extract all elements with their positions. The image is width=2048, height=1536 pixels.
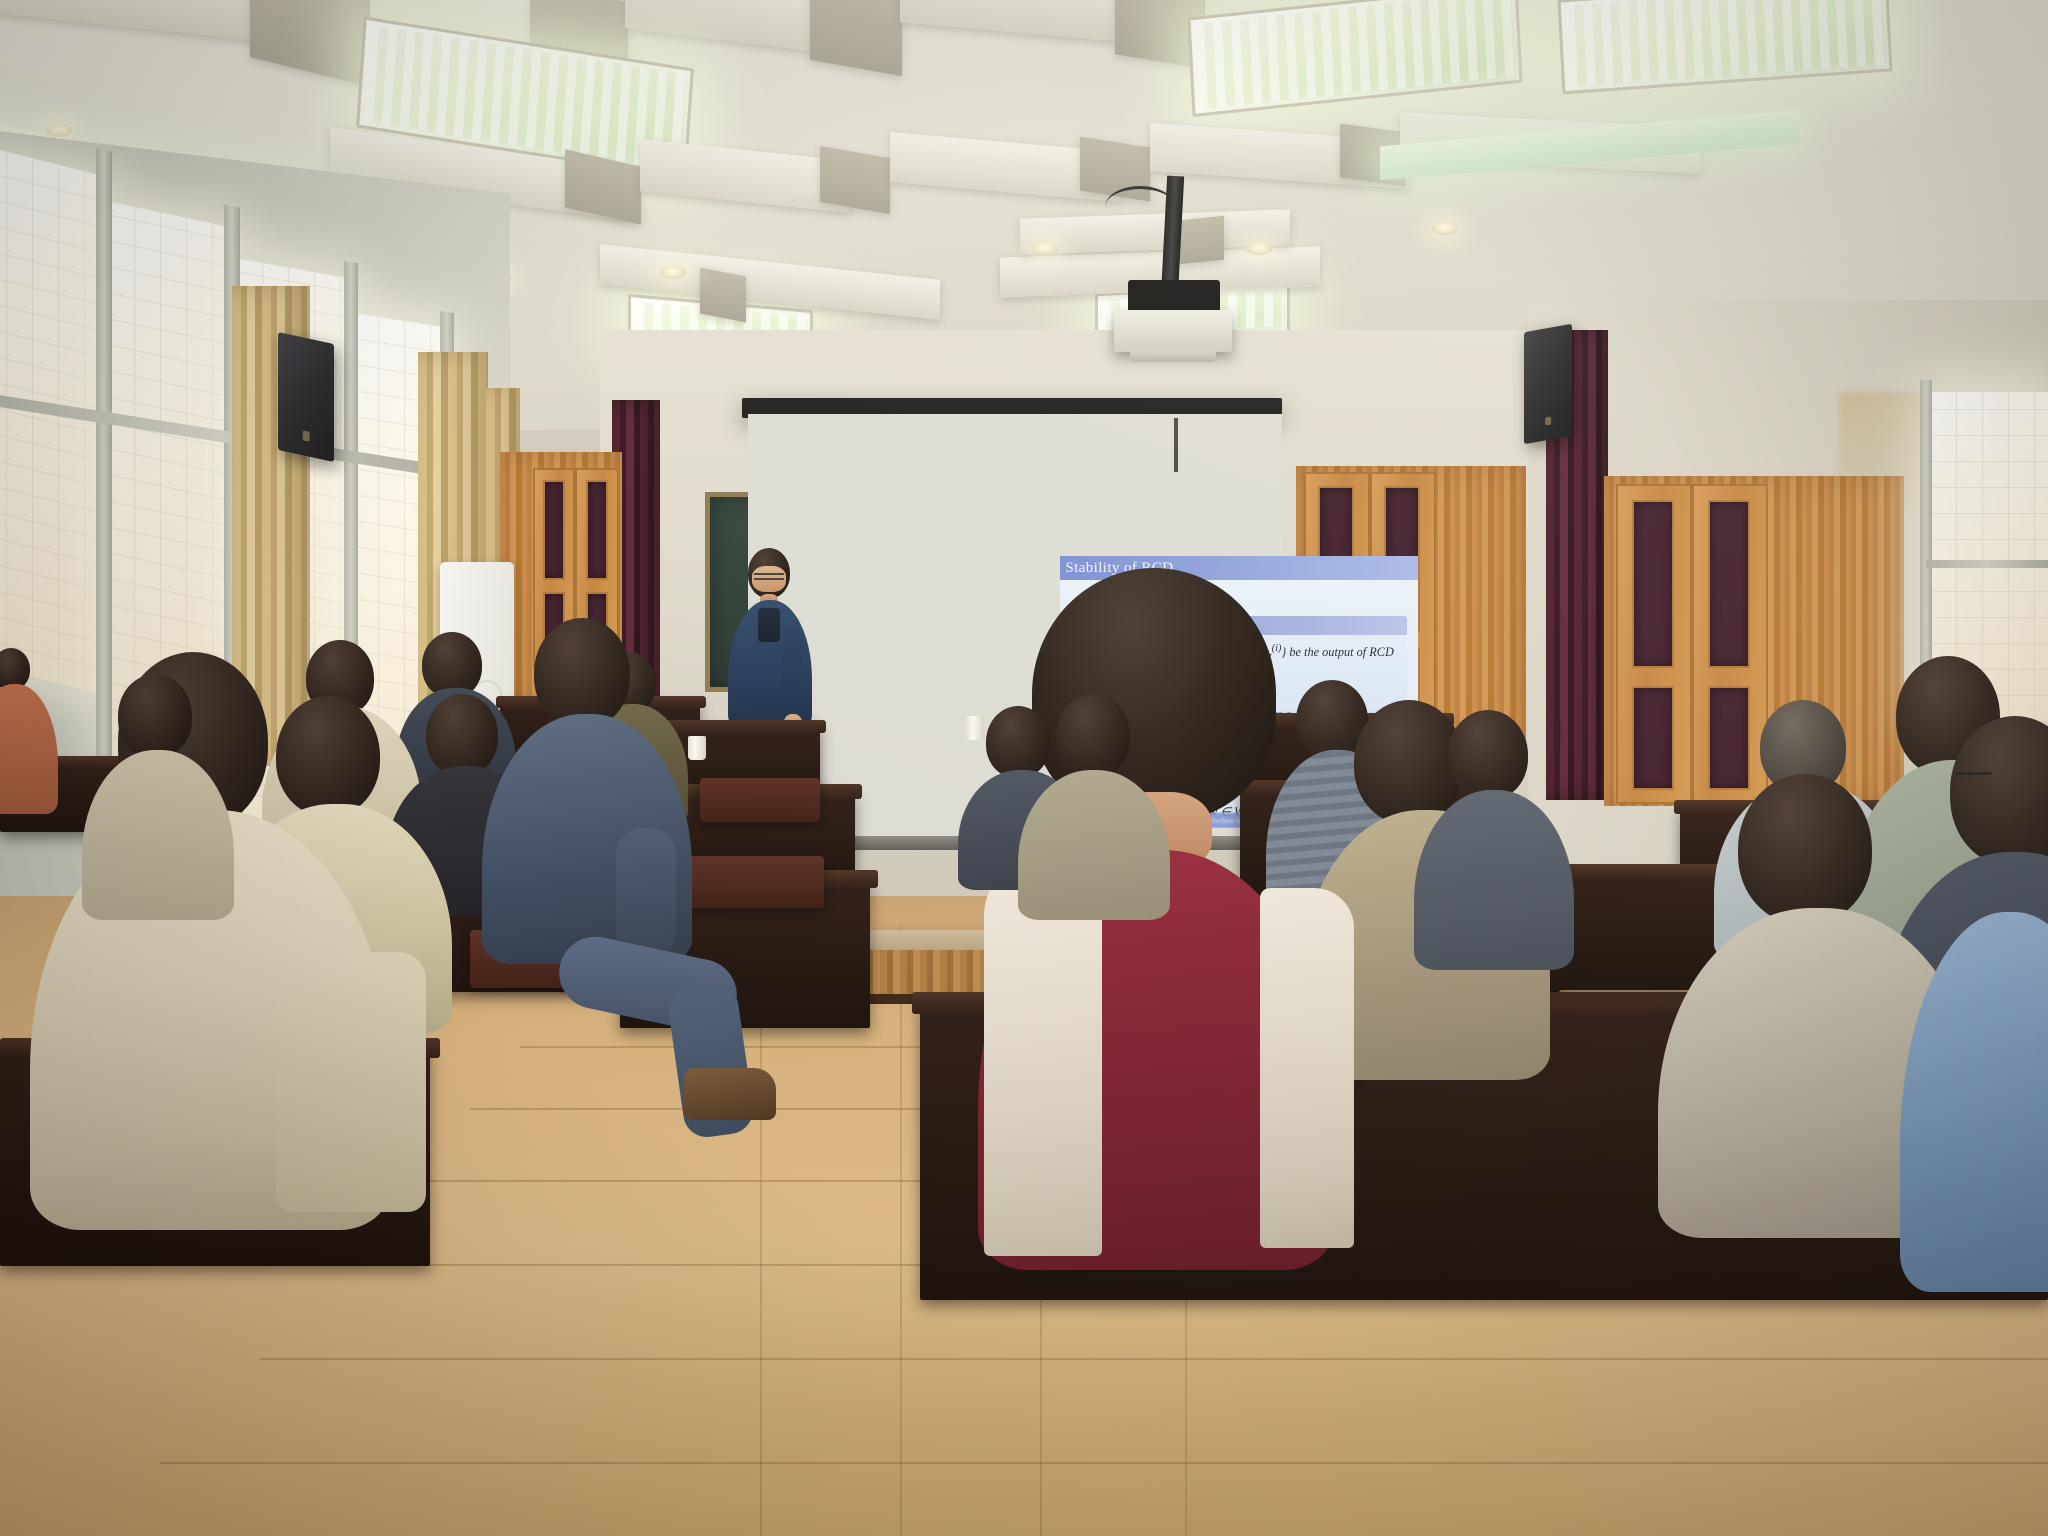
- ceiling-light-panel: [1187, 0, 1522, 117]
- projector-lens-housing: [1130, 350, 1216, 362]
- projector-cable: [1105, 186, 1175, 228]
- audience-head: [1448, 710, 1528, 800]
- door-panel-inset: [1708, 686, 1750, 790]
- thm5-sup-2: (i): [1272, 643, 1282, 654]
- glasses-icon: [754, 573, 784, 580]
- audience-head: [1738, 774, 1872, 924]
- downlight: [1246, 242, 1272, 255]
- audience-head: [118, 674, 192, 758]
- projector: [1114, 310, 1232, 352]
- audience-arm: [616, 828, 676, 958]
- audience-head: [276, 696, 380, 816]
- downlight: [1432, 222, 1458, 235]
- door-panel-inset: [543, 480, 565, 580]
- downlight: [1032, 242, 1058, 255]
- door-panel-inset: [1708, 500, 1750, 668]
- door-panel-inset: [586, 480, 608, 580]
- chair-back: [676, 856, 824, 908]
- presenter-collar: [758, 608, 780, 642]
- audience-head: [534, 618, 630, 728]
- audience-head: [986, 706, 1050, 778]
- lecture-hall-photo: Stability of RCD Non-convex case Theorem…: [0, 0, 2048, 1536]
- ceiling-light-panel: [1558, 0, 1893, 94]
- door-panel-inset: [1632, 500, 1674, 668]
- varsity-jacket-sleeve: [1260, 888, 1354, 1248]
- audience-arm: [276, 952, 426, 1212]
- paper-cup: [688, 736, 706, 760]
- wall-speaker-left: [278, 332, 334, 462]
- door-panel-inset: [1632, 686, 1674, 790]
- chair-back: [700, 778, 820, 822]
- wall-speaker-right: [1524, 324, 1572, 444]
- glasses-icon: [1956, 772, 1992, 782]
- audience-head: [426, 694, 498, 776]
- presenter-arm-right: [782, 628, 802, 724]
- audience-head: [1056, 694, 1130, 778]
- screen-pull-cord: [1174, 418, 1178, 472]
- downlight: [46, 124, 72, 137]
- paper-cup: [966, 716, 984, 740]
- downlight: [660, 266, 686, 279]
- audience-shoe: [684, 1068, 776, 1120]
